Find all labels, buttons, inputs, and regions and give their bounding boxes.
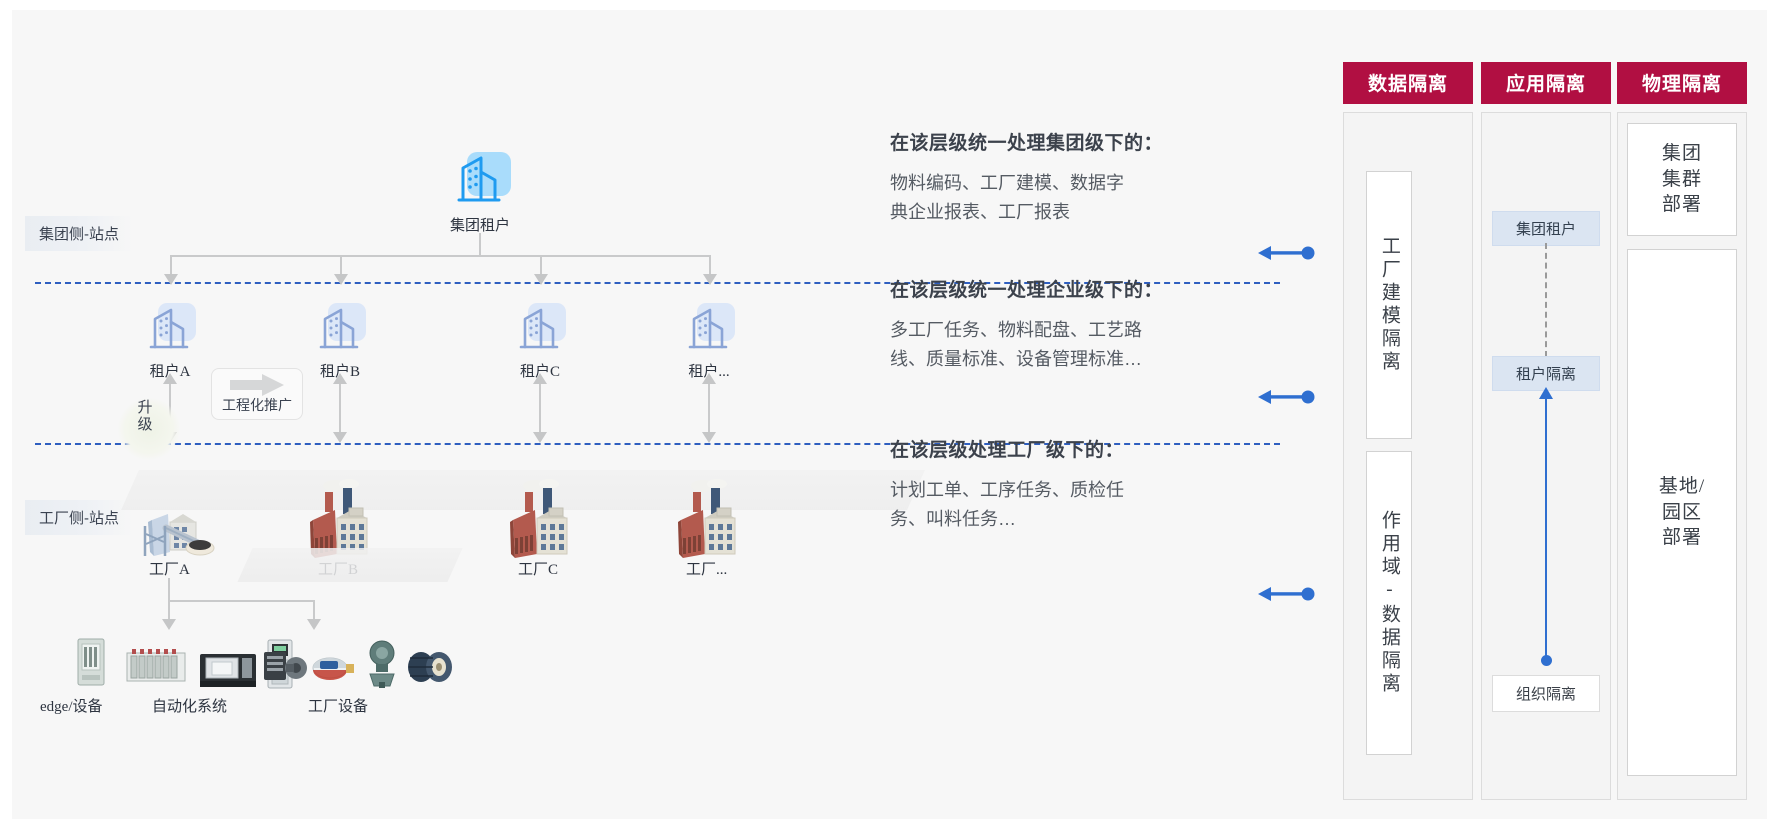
chip-tenant-isolation[interactable]: 租户隔离 — [1492, 356, 1600, 391]
factory-icon — [673, 478, 749, 560]
cnc-machine-icon — [198, 648, 260, 690]
connector — [168, 600, 314, 602]
arrow-down-icon — [334, 274, 348, 285]
connector — [540, 255, 542, 275]
arrow-down-icon — [533, 432, 547, 443]
box-label: 作用域-数据隔离 — [1378, 510, 1400, 696]
right-arrow-icon — [228, 372, 286, 403]
pointer-arrow-group — [1258, 245, 1316, 261]
arrow-up-icon — [163, 373, 177, 384]
panel-physical-isolation: 物理隔离 集团集群部署 基地/园区部署 — [1617, 62, 1747, 800]
device-edge[interactable] — [70, 635, 112, 695]
arrow-up-icon — [533, 373, 547, 384]
device-label-edge: edge/设备 — [40, 695, 102, 716]
node-label: 工厂C — [518, 558, 558, 579]
panel-title: 物理隔离 — [1617, 62, 1747, 104]
box-label: 基地/园区部署 — [1659, 474, 1705, 551]
water-meter-icon — [310, 652, 356, 684]
description-head: 在该层级统一处理企业级下的： — [890, 275, 1220, 302]
node-factory-a[interactable] — [140, 482, 220, 567]
node-label: 集团租户 — [430, 214, 530, 235]
connector — [168, 600, 170, 620]
pointer-arrow-factory — [1258, 586, 1316, 602]
device-plc-rack[interactable] — [125, 645, 187, 692]
panel-title: 应用隔离 — [1481, 62, 1611, 104]
arrow-down-icon — [333, 432, 347, 443]
node-label: 工厂... — [686, 558, 727, 579]
arrow-down-icon — [164, 274, 178, 285]
factory-icon — [505, 478, 581, 560]
device-transmitter[interactable] — [362, 638, 402, 693]
factory-plant-icon — [140, 482, 220, 562]
device-label-automation: 自动化系统 — [152, 695, 227, 716]
node-tenant-c[interactable]: 租户C — [504, 300, 576, 381]
box-base-park-deployment[interactable]: 基地/园区部署 — [1627, 249, 1737, 776]
panel-body: 集团租户 租户隔离 组织隔离 — [1481, 112, 1611, 800]
pressure-transmitter-icon — [362, 638, 402, 688]
connector — [709, 255, 711, 275]
device-label-equipment: 工厂设备 — [308, 695, 368, 716]
panel-data-isolation: 数据隔离 工厂建模隔离 作用域-数据隔离 — [1343, 62, 1473, 800]
description-line: 典企业报表、工厂报表 — [890, 198, 1220, 227]
arrow-down-icon — [307, 619, 321, 630]
description-head: 在该层级统一处理集团级下的： — [890, 128, 1220, 155]
edge-cabinet-icon — [70, 635, 112, 690]
arrow-down-icon — [534, 274, 548, 285]
device-water-meter[interactable] — [310, 652, 356, 689]
chip-group-tenant[interactable]: 集团租户 — [1492, 211, 1600, 246]
building-icon — [312, 300, 368, 356]
blue-connector — [1545, 399, 1547, 661]
connector — [313, 600, 315, 620]
connector — [340, 255, 342, 275]
node-group-tenant[interactable]: 集团租户 — [430, 148, 530, 235]
panel-title: 数据隔离 — [1343, 62, 1473, 104]
motor-coil-icon — [405, 648, 457, 686]
building-icon — [449, 148, 511, 210]
description-line: 务、叫料任务… — [890, 505, 1220, 534]
connector — [170, 255, 710, 257]
building-icon — [681, 300, 737, 356]
description-line: 物料编码、工厂建模、数据字 — [890, 169, 1220, 198]
box-label: 工厂建模隔离 — [1378, 236, 1400, 374]
arrow-down-icon — [162, 619, 176, 630]
connector — [539, 382, 541, 434]
box-scope-data-isolation[interactable]: 作用域-数据隔离 — [1366, 451, 1412, 755]
panel-application-isolation: 应用隔离 集团租户 租户隔离 组织隔离 — [1481, 62, 1611, 800]
blue-arrow-up-icon — [1539, 387, 1553, 399]
servo-motor-icon — [262, 648, 312, 686]
automation-system-icon — [125, 645, 187, 687]
description-enterprise-level: 在该层级统一处理企业级下的： 多工厂任务、物料配盘、工艺路 线、质量标准、设备管… — [890, 275, 1220, 374]
description-line: 多工厂任务、物料配盘、工艺路 — [890, 316, 1220, 345]
node-tenant-more[interactable]: 租户... — [673, 300, 745, 381]
upgrade-line-2: 级 — [126, 417, 164, 434]
description-factory-level: 在该层级处理工厂级下的： 计划工单、工序任务、质检任 务、叫料任务… — [890, 435, 1220, 534]
chip-organization-isolation[interactable]: 组织隔离 — [1492, 675, 1600, 712]
box-label: 集团集群部署 — [1662, 141, 1702, 218]
upgrade-badge: 升 级 — [126, 400, 164, 434]
building-icon — [512, 300, 568, 356]
description-group-level: 在该层级统一处理集团级下的： 物料编码、工厂建模、数据字 典企业报表、工厂报表 — [890, 128, 1220, 227]
connector — [339, 382, 341, 434]
node-tenant-a[interactable]: 租户A — [134, 300, 206, 381]
arrow-up-icon — [333, 373, 347, 384]
upgrade-line-1: 升 — [126, 400, 164, 417]
connector — [708, 382, 710, 434]
connector — [170, 255, 172, 275]
arrow-down-icon — [703, 274, 717, 285]
node-factory-more[interactable] — [673, 478, 749, 565]
description-line: 计划工单、工序任务、质检任 — [890, 476, 1220, 505]
pointer-arrow-enterprise — [1258, 389, 1316, 405]
node-tenant-b[interactable]: 租户B — [304, 300, 376, 381]
blue-dot — [1541, 655, 1552, 666]
diagram-canvas: 集团侧-站点 工厂侧-站点 集团租户 — [0, 0, 1779, 837]
arrow-up-icon — [702, 373, 716, 384]
building-icon — [142, 300, 198, 356]
page-frame-bottom — [0, 819, 1779, 837]
page-frame-right — [1767, 0, 1779, 837]
connector — [168, 578, 170, 600]
side-label-group: 集团侧-站点 — [25, 216, 133, 251]
panel-body: 工厂建模隔离 作用域-数据隔离 — [1343, 112, 1473, 800]
page-frame-top — [0, 0, 1779, 10]
side-label-factory: 工厂侧-站点 — [25, 500, 133, 535]
description-line: 线、质量标准、设备管理标准… — [890, 345, 1220, 374]
box-group-cluster-deployment[interactable]: 集团集群部署 — [1627, 123, 1737, 236]
box-factory-modeling-isolation[interactable]: 工厂建模隔离 — [1366, 171, 1412, 439]
dashed-connector — [1545, 243, 1547, 357]
device-cnc[interactable] — [198, 648, 260, 695]
ground-plate-devices — [237, 548, 462, 582]
arrow-down-icon — [702, 432, 716, 443]
node-label: 工厂A — [149, 558, 190, 579]
description-head: 在该层级处理工厂级下的： — [890, 435, 1220, 462]
device-motor[interactable] — [405, 648, 457, 691]
panel-body: 集团集群部署 基地/园区部署 — [1617, 112, 1747, 800]
connector — [479, 233, 481, 257]
device-servo[interactable] — [262, 648, 312, 691]
page-frame-left — [0, 0, 12, 837]
node-factory-c[interactable] — [505, 478, 581, 565]
